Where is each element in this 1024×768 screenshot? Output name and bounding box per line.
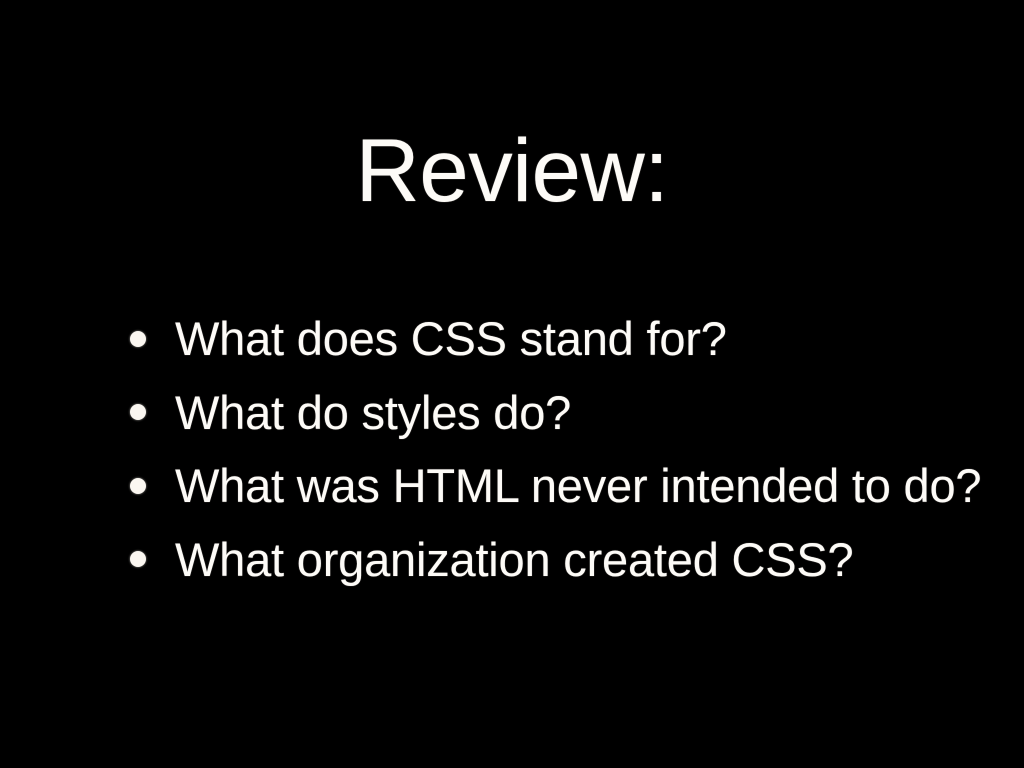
bullet-dot-icon [130, 551, 146, 567]
list-item: What was HTML never intended to do? [128, 449, 988, 523]
list-item: What do styles do? [128, 376, 988, 450]
bullet-dot-icon [130, 478, 146, 494]
slide-title: Review: [0, 126, 1024, 215]
list-item: What does CSS stand for? [128, 302, 988, 376]
bullet-dot-icon [130, 331, 146, 347]
list-item-label: What organization created CSS? [175, 535, 853, 584]
list-item-label: What was HTML never intended to do? [175, 461, 981, 510]
bullet-list: What does CSS stand for? What do styles … [128, 302, 988, 596]
list-item-label: What do styles do? [175, 388, 571, 437]
list-item-label: What does CSS stand for? [175, 314, 727, 363]
bullet-dot-icon [130, 404, 146, 420]
presentation-slide: Review: What does CSS stand for? What do… [0, 0, 1024, 768]
list-item: What organization created CSS? [128, 523, 988, 597]
